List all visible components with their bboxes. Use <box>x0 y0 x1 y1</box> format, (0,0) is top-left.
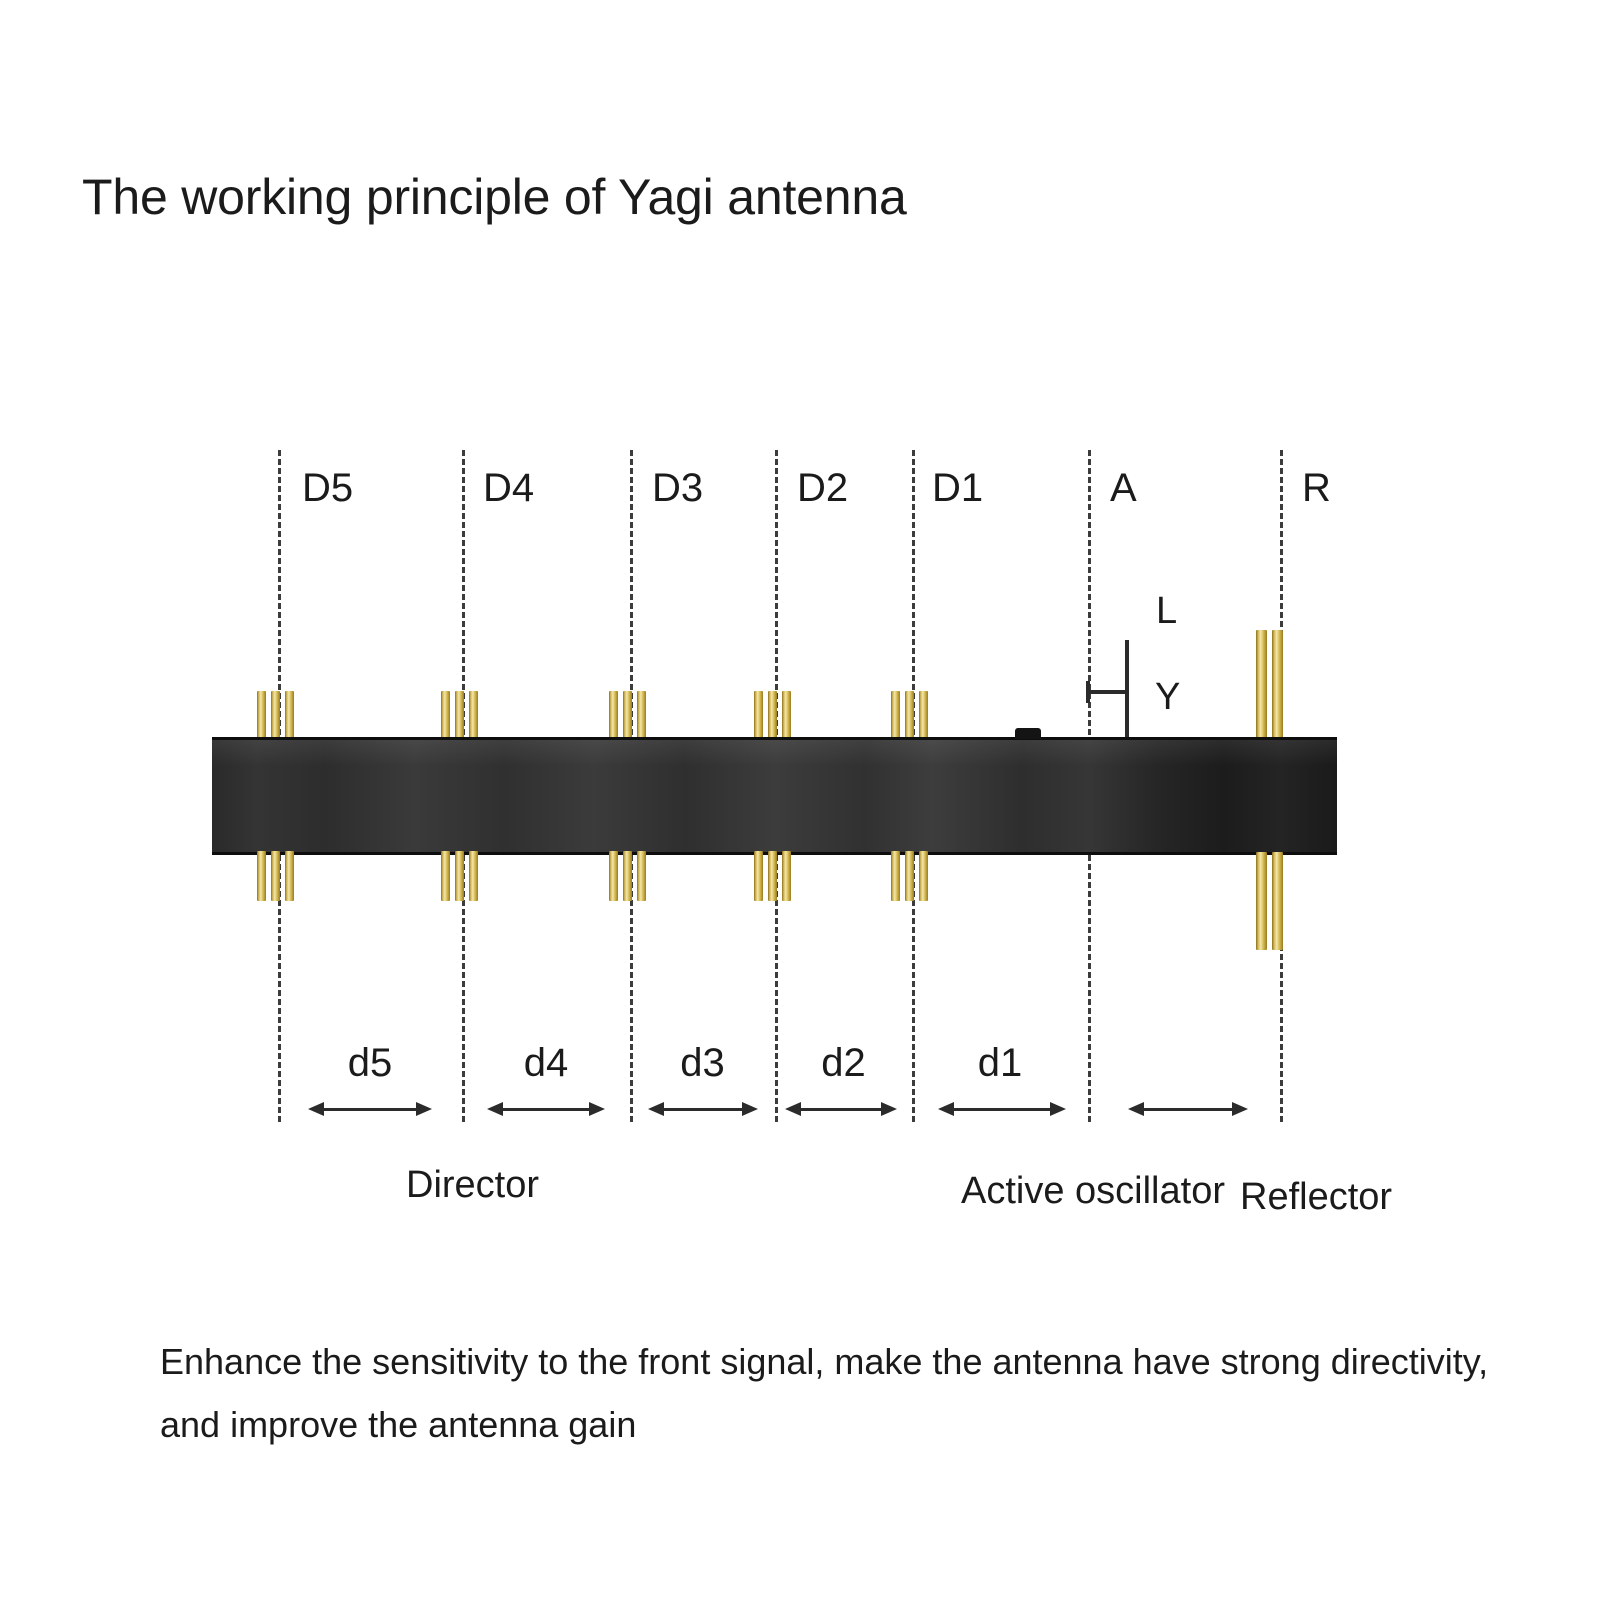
element-label-d4: D4 <box>483 468 534 508</box>
annotation-label-Y: Y <box>1155 678 1180 716</box>
arrow-head-right-icon <box>589 1102 605 1116</box>
director-rod-bottom-d1 <box>891 851 928 901</box>
rod-segment <box>1256 852 1267 950</box>
arrow-shaft <box>1140 1108 1236 1111</box>
rod-segment <box>455 691 464 741</box>
rod-segment <box>905 851 914 901</box>
rod-segment <box>782 851 791 901</box>
oscillator-offset-tick <box>1088 690 1129 694</box>
description-line-1: Enhance the sensitivity to the front sig… <box>160 1330 1490 1393</box>
rod-segment <box>1256 630 1267 740</box>
boom-connector-nub <box>1015 728 1041 739</box>
antenna-boom <box>212 737 1337 855</box>
reflector-rod-bottom <box>1256 852 1283 950</box>
director-rod-bottom-d5 <box>257 851 294 901</box>
element-label-a: A <box>1110 468 1137 508</box>
spacing-arrow-d5 <box>308 1100 432 1120</box>
element-label-d2: D2 <box>797 468 848 508</box>
rod-segment <box>285 691 294 741</box>
element-label-d3: D3 <box>652 468 703 508</box>
rod-segment <box>469 691 478 741</box>
rod-segment <box>637 691 646 741</box>
rod-segment <box>905 691 914 741</box>
rod-segment <box>919 691 928 741</box>
rod-segment <box>609 691 618 741</box>
director-rod-top-d1 <box>891 691 928 741</box>
rod-segment <box>455 851 464 901</box>
rod-segment <box>271 691 280 741</box>
description-line-2: and improve the antenna gain <box>160 1393 1490 1456</box>
rod-segment <box>782 691 791 741</box>
spacing-label-d3: d3 <box>630 1043 775 1083</box>
oscillator-offset-endcap <box>1086 681 1090 703</box>
rod-segment <box>257 851 266 901</box>
caption-director: Director <box>406 1166 539 1204</box>
element-label-d1: D1 <box>932 468 983 508</box>
arrow-shaft <box>950 1108 1054 1111</box>
arrow-shaft <box>797 1108 885 1111</box>
spacing-arrow-d3 <box>648 1100 758 1120</box>
rod-segment <box>1272 630 1283 740</box>
rod-segment <box>271 851 280 901</box>
director-rod-top-d4 <box>441 691 478 741</box>
arrow-shaft <box>660 1108 746 1111</box>
caption-reflector: Reflector <box>1240 1178 1392 1216</box>
diagram-page: The working principle of Yagi antenna D5… <box>0 0 1600 1600</box>
director-rod-bottom-d4 <box>441 851 478 901</box>
rod-segment <box>623 851 632 901</box>
rod-segment <box>768 691 777 741</box>
spacing-arrow-d1 <box>938 1100 1066 1120</box>
director-rod-top-d5 <box>257 691 294 741</box>
director-rod-bottom-d2 <box>754 851 791 901</box>
rod-segment <box>754 851 763 901</box>
spacing-arrow-a-to-r <box>1128 1100 1248 1120</box>
arrow-head-right-icon <box>1232 1102 1248 1116</box>
spacing-label-d4: d4 <box>462 1043 630 1083</box>
rod-segment <box>441 691 450 741</box>
rod-segment <box>891 851 900 901</box>
rod-segment <box>609 851 618 901</box>
rod-segment <box>637 851 646 901</box>
element-label-r: R <box>1302 468 1331 508</box>
arrow-head-right-icon <box>416 1102 432 1116</box>
rod-segment <box>441 851 450 901</box>
rod-segment <box>469 851 478 901</box>
rod-segment <box>754 691 763 741</box>
spacing-label-d5: d5 <box>278 1043 462 1083</box>
spacing-arrow-d4 <box>487 1100 605 1120</box>
director-rod-top-d3 <box>609 691 646 741</box>
annotation-label-L: L <box>1156 592 1177 630</box>
element-label-d5: D5 <box>302 468 353 508</box>
caption-active-oscillator: Active oscillator <box>961 1172 1225 1210</box>
rod-segment <box>1272 852 1283 950</box>
rod-segment <box>623 691 632 741</box>
reflector-rod-top <box>1256 630 1283 740</box>
spacing-label-d1: d1 <box>912 1043 1088 1083</box>
director-rod-top-d2 <box>754 691 791 741</box>
rod-segment <box>891 691 900 741</box>
rod-segment <box>257 691 266 741</box>
description-text: Enhance the sensitivity to the front sig… <box>160 1330 1490 1456</box>
oscillator-length-line <box>1125 640 1129 750</box>
rod-segment <box>768 851 777 901</box>
rod-segment <box>285 851 294 901</box>
arrow-shaft <box>499 1108 593 1111</box>
arrow-head-right-icon <box>1050 1102 1066 1116</box>
arrow-head-right-icon <box>881 1102 897 1116</box>
spacing-arrow-d2 <box>785 1100 897 1120</box>
rod-segment <box>919 851 928 901</box>
arrow-head-right-icon <box>742 1102 758 1116</box>
director-rod-bottom-d3 <box>609 851 646 901</box>
spacing-label-d2: d2 <box>775 1043 912 1083</box>
arrow-shaft <box>320 1108 420 1111</box>
